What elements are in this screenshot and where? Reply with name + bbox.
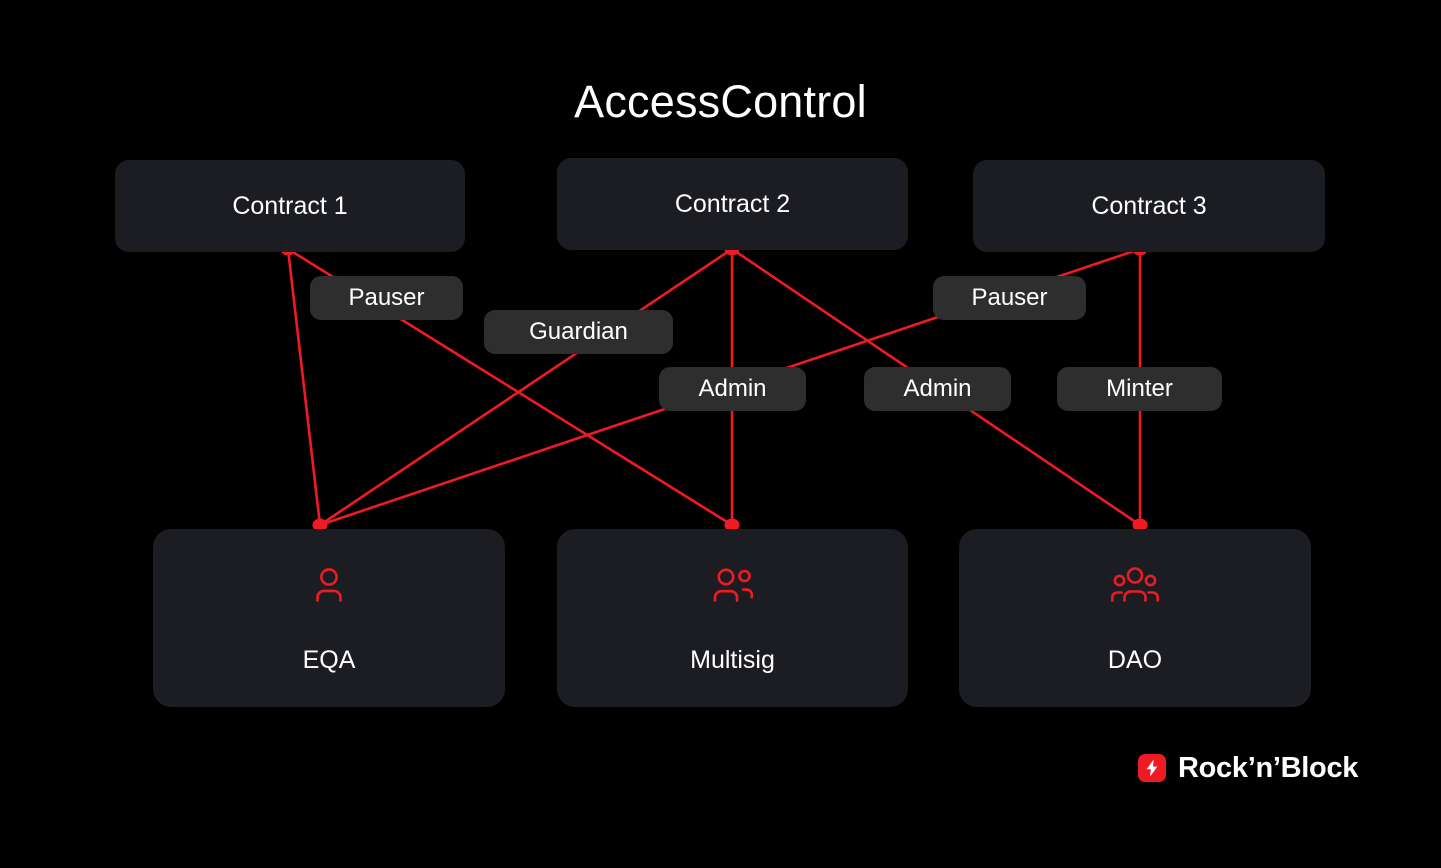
lightning-bolt-icon <box>1138 754 1166 782</box>
brand-logo[interactable]: Rock’n’Block <box>1138 748 1358 788</box>
contract-2-label: Contract 2 <box>675 189 790 219</box>
role-pill-pauser-contract3[interactable]: Pauser <box>933 276 1086 320</box>
actor-dao-label: DAO <box>1108 645 1162 675</box>
role-label: Guardian <box>529 318 628 346</box>
user-group-icon <box>1104 562 1166 615</box>
role-label: Pauser <box>971 284 1047 312</box>
role-pill-minter-contract3[interactable]: Minter <box>1057 367 1222 411</box>
role-label: Admin <box>698 375 766 403</box>
node-contract-2[interactable]: Contract 2 <box>557 158 908 250</box>
node-actor-eqa[interactable]: EQA <box>153 529 505 707</box>
node-actor-dao[interactable]: DAO <box>959 529 1311 707</box>
node-contract-1[interactable]: Contract 1 <box>115 160 465 252</box>
role-pill-admin-contract2-multisig[interactable]: Admin <box>659 367 806 411</box>
brand-name: Rock’n’Block <box>1178 751 1358 785</box>
role-pill-admin-contract2-dao[interactable]: Admin <box>864 367 1011 411</box>
role-label: Admin <box>903 375 971 403</box>
role-label: Pauser <box>348 284 424 312</box>
edge-layer <box>0 0 1441 868</box>
user-single-icon <box>305 562 353 615</box>
node-actor-multisig[interactable]: Multisig <box>557 529 908 707</box>
contract-3-label: Contract 3 <box>1091 191 1206 221</box>
page-title: AccessControl <box>0 74 1441 130</box>
contract-1-label: Contract 1 <box>232 191 347 221</box>
role-pill-guardian-contract2[interactable]: Guardian <box>484 310 673 354</box>
diagram-canvas: AccessControl Contract 1 Contract 2 Cont… <box>0 0 1441 868</box>
role-pill-pauser-contract1[interactable]: Pauser <box>310 276 463 320</box>
actor-multisig-label: Multisig <box>690 645 775 675</box>
node-contract-3[interactable]: Contract 3 <box>973 160 1325 252</box>
role-label: Minter <box>1106 375 1173 403</box>
actor-eqa-label: EQA <box>303 645 356 675</box>
user-pair-icon <box>705 562 761 615</box>
